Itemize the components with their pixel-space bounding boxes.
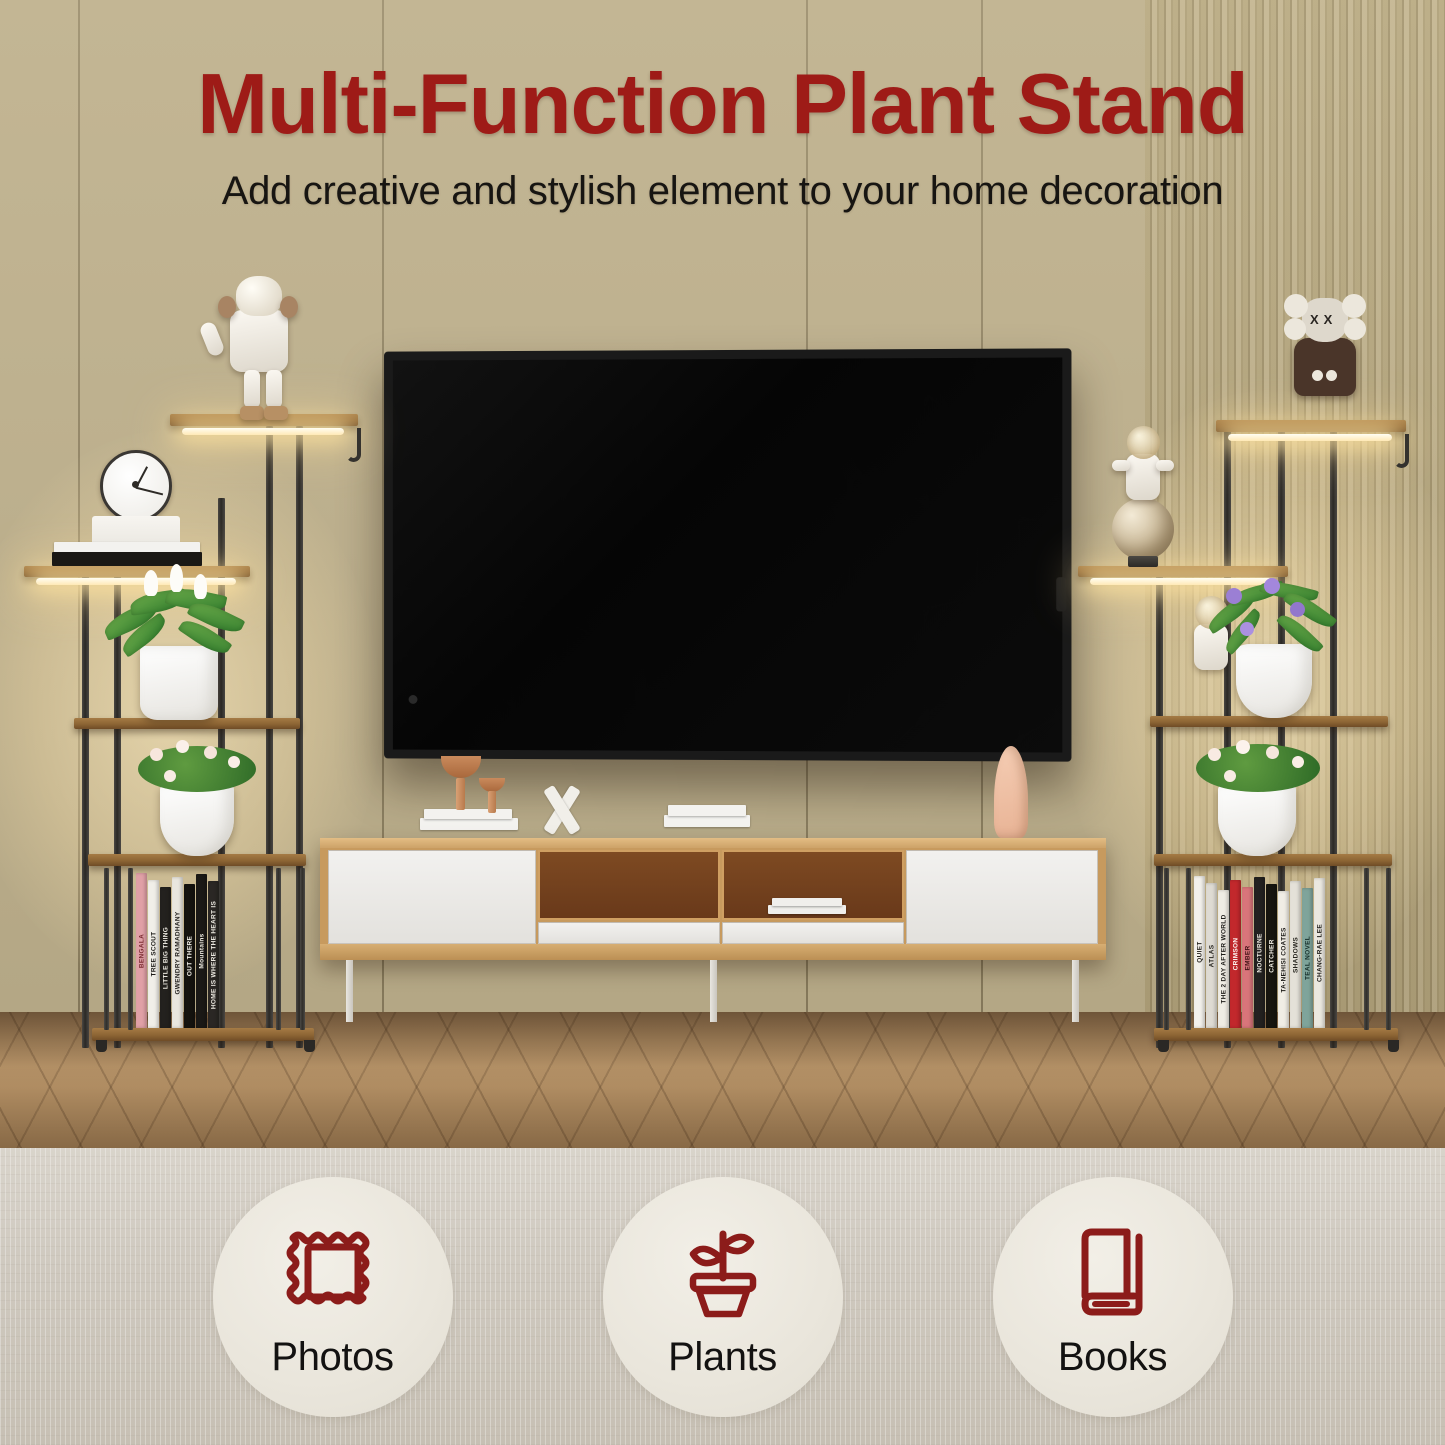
- astronaut-arm: [1112, 460, 1130, 471]
- book-spine: CHANG-RAE LEE: [1314, 878, 1325, 1028]
- book-spine: Mountains: [196, 874, 207, 1028]
- lavender-flower: [1290, 602, 1305, 617]
- plant-flower: [176, 740, 189, 753]
- moon-sculpture-base: [1128, 556, 1158, 567]
- console-door-left[interactable]: [328, 850, 536, 944]
- product-marketing-image: BENGALATREE SCOUTLITTLE BIG THINGGWENDRY…: [0, 0, 1445, 1445]
- plant-flower: [1224, 770, 1236, 782]
- console-cubby-left: [538, 850, 720, 920]
- book-spine: HOME IS WHERE THE HEART IS: [208, 881, 219, 1028]
- book-spine: LITTLE BIG THING: [160, 887, 171, 1028]
- plant-flower: [1236, 740, 1250, 754]
- led-light-strip: [1090, 578, 1272, 585]
- book-title: LITTLE BIG THING: [162, 926, 169, 988]
- stand-hook-icon: [346, 428, 361, 462]
- plant-flower: [228, 756, 240, 768]
- feature-plants[interactable]: Plants: [603, 1177, 843, 1417]
- led-light-strip: [1228, 434, 1392, 441]
- stand-vertical-bar: [1386, 868, 1391, 1030]
- book-title: QUIET: [1196, 941, 1203, 962]
- feature-badges: Photos Plants: [0, 1148, 1445, 1445]
- stand-shelf-second: [1078, 566, 1288, 577]
- console-leg: [710, 960, 717, 1022]
- stand-post: [114, 568, 121, 1048]
- plant-flower: [204, 746, 217, 759]
- tv-screen: [393, 357, 1062, 752]
- figurine-shoe: [240, 406, 264, 420]
- photo-frame-stamp-icon: [281, 1213, 385, 1331]
- plant-flower: [164, 770, 176, 782]
- astronaut-arm: [1156, 460, 1174, 471]
- feature-circle: Photos: [213, 1177, 453, 1417]
- moon-sphere-sculpture: [1112, 498, 1174, 560]
- stand-hook-icon: [1394, 434, 1409, 468]
- book-spine: QUIET: [1194, 876, 1205, 1028]
- magazine-stack: [664, 815, 750, 827]
- copper-candle-stem: [488, 791, 496, 813]
- plant-flower: [1292, 756, 1304, 768]
- figurine-ear: [218, 296, 236, 318]
- stand-vertical-bar: [300, 868, 305, 1030]
- cubby-book: [768, 905, 846, 914]
- astronaut-helmet: [1127, 426, 1160, 459]
- stand-shelf-bottom: [1154, 1028, 1398, 1041]
- book-title: HOME IS WHERE THE HEART IS: [210, 900, 217, 1008]
- stand-foot: [96, 1040, 107, 1052]
- book-spine: TEAL NOVEL: [1302, 888, 1313, 1028]
- figurine-shoe: [264, 406, 288, 420]
- magazine-stack: [668, 805, 746, 816]
- peace-lily-bloom: [144, 570, 158, 596]
- book-title: SHADOWS: [1292, 936, 1299, 972]
- tv-media-console: [320, 838, 1106, 1028]
- console-body: [320, 838, 1106, 960]
- tv-indicator-dot: [409, 695, 418, 704]
- book-title: NOCTURNE: [1256, 933, 1263, 972]
- book-spine: ATLAS: [1206, 883, 1217, 1028]
- book-spine: CRIMSON: [1230, 880, 1241, 1028]
- led-light-strip: [182, 428, 344, 435]
- bookshelf-row-right: QUIETATLASTHE 2 DAY AFTER WORLDCRIMSONEM…: [1194, 868, 1325, 1028]
- feature-label: Plants: [668, 1335, 777, 1380]
- white-book-stack: [424, 809, 512, 819]
- stand-post: [1330, 426, 1337, 1048]
- header-block: Multi-Function Plant Stand Add creative …: [0, 0, 1445, 214]
- book-title: GWENDRY RAMADHANY: [174, 911, 181, 994]
- book-title: THE 2 DAY AFTER WORLD: [1220, 914, 1227, 1003]
- book-spine: BENGALA: [136, 873, 147, 1028]
- plush-eyes: XX: [1310, 312, 1337, 327]
- console-cubby-right: [722, 850, 904, 920]
- figurine-leg: [244, 370, 260, 408]
- white-planter-pot: [140, 646, 218, 720]
- book-title: BENGALA: [138, 933, 145, 967]
- cubby-book: [772, 898, 842, 906]
- plant-flower: [1266, 746, 1279, 759]
- console-base-rail: [320, 944, 1106, 960]
- right-plant-stand: XX: [1098, 398, 1438, 1048]
- feature-circle: Books: [993, 1177, 1233, 1417]
- stand-shelf-fourth: [1154, 854, 1392, 866]
- clock-hand-minute: [136, 486, 163, 495]
- kaws-plush-figurine: [1294, 338, 1356, 396]
- feature-books[interactable]: Books: [993, 1177, 1233, 1417]
- white-book-stack: [420, 818, 518, 830]
- lavender-flower: [1264, 578, 1280, 594]
- book-spine: CATCHER: [1266, 884, 1277, 1028]
- lavender-flower: [1226, 588, 1242, 604]
- stand-foot: [1158, 1040, 1169, 1052]
- stand-post: [266, 426, 273, 1048]
- stand-post: [1156, 568, 1163, 1048]
- feature-photos[interactable]: Photos: [213, 1177, 453, 1417]
- peace-lily-bloom: [170, 564, 183, 592]
- plant-flower: [1208, 748, 1221, 761]
- page-subtitle: Add creative and stylish element to your…: [0, 169, 1445, 214]
- stand-vertical-bar: [1364, 868, 1369, 1030]
- white-planter-pot: [160, 782, 234, 856]
- book-title: TREE SCOUT: [150, 932, 157, 977]
- book-spine: GWENDRY RAMADHANY: [172, 877, 183, 1028]
- console-leg: [1072, 960, 1079, 1022]
- stand-shelf-second: [24, 566, 250, 577]
- figurine-head: [236, 276, 282, 316]
- feature-label: Books: [1058, 1335, 1167, 1380]
- book-spine: SHADOWS: [1290, 881, 1301, 1028]
- book-title: OUT THERE: [186, 936, 193, 976]
- stand-post: [82, 568, 89, 1048]
- book-title: CRIMSON: [1232, 938, 1239, 971]
- stand-shelf-top: [1216, 420, 1406, 432]
- figurine-leg: [266, 370, 282, 408]
- copper-bowl-stem: [456, 778, 465, 810]
- console-drawer-middle-left[interactable]: [538, 922, 720, 944]
- closed-book-icon: [1061, 1213, 1165, 1331]
- wall-mounted-tv: [384, 348, 1071, 761]
- potted-plant-icon: [671, 1213, 775, 1331]
- book-title: CHANG-RAE LEE: [1316, 924, 1323, 982]
- white-planter-pot: [1218, 782, 1296, 856]
- tv-side-port: [1056, 577, 1066, 611]
- console-drawer-middle-right[interactable]: [722, 922, 904, 944]
- book-title: TEAL NOVEL: [1304, 936, 1311, 980]
- stand-vertical-bar: [128, 868, 133, 1030]
- book-spine: EMBER: [1242, 887, 1253, 1028]
- console-top-surface: [320, 838, 1106, 848]
- feature-label: Photos: [271, 1335, 393, 1380]
- stand-vertical-bar: [276, 868, 281, 1030]
- book-spine: OUT THERE: [184, 884, 195, 1028]
- book-spine: TREE SCOUT: [148, 880, 159, 1028]
- stand-vertical-bar: [104, 868, 109, 1030]
- book-title: CATCHER: [1268, 939, 1275, 972]
- astronaut-figurine: [1126, 454, 1160, 500]
- book-spine: THE 2 DAY AFTER WORLD: [1218, 890, 1229, 1028]
- stand-vertical-bar: [1164, 868, 1169, 1030]
- stand-foot: [304, 1040, 315, 1052]
- book-title: ATLAS: [1208, 944, 1215, 967]
- lavender-flower: [1240, 622, 1254, 636]
- plush-button: [1312, 370, 1323, 381]
- book-spine: NOCTURNE: [1254, 877, 1265, 1028]
- book-stack-bottom: [52, 552, 202, 566]
- stand-shelf-bottom: [92, 1028, 314, 1041]
- page-title: Multi-Function Plant Stand: [0, 0, 1445, 149]
- plush-pom: [1284, 294, 1308, 318]
- peace-lily-bloom: [194, 574, 207, 599]
- plush-pom: [1342, 294, 1366, 318]
- kaws-companion-figurine: [230, 310, 288, 372]
- left-plant-stand: BENGALATREE SCOUTLITTLE BIG THINGGWENDRY…: [18, 398, 348, 1048]
- bookshelf-row-left: BENGALATREE SCOUTLITTLE BIG THINGGWENDRY…: [136, 868, 219, 1028]
- table-clock: [100, 450, 172, 522]
- stand-vertical-bar: [1186, 868, 1191, 1030]
- white-planter-pot: [1236, 644, 1312, 718]
- book-title: TA-NEHISI COATES: [1280, 927, 1287, 992]
- figurine-ear: [280, 296, 298, 318]
- stand-foot: [1388, 1040, 1399, 1052]
- plant-flower: [150, 748, 163, 761]
- plush-pom: [1284, 318, 1306, 340]
- console-door-right[interactable]: [906, 850, 1098, 944]
- book-title: EMBER: [1244, 945, 1251, 970]
- plush-pom: [1344, 318, 1366, 340]
- book-title: Mountains: [198, 933, 205, 968]
- book-spine: TA-NEHISI COATES: [1278, 891, 1289, 1028]
- feature-circle: Plants: [603, 1177, 843, 1417]
- plush-button: [1326, 370, 1337, 381]
